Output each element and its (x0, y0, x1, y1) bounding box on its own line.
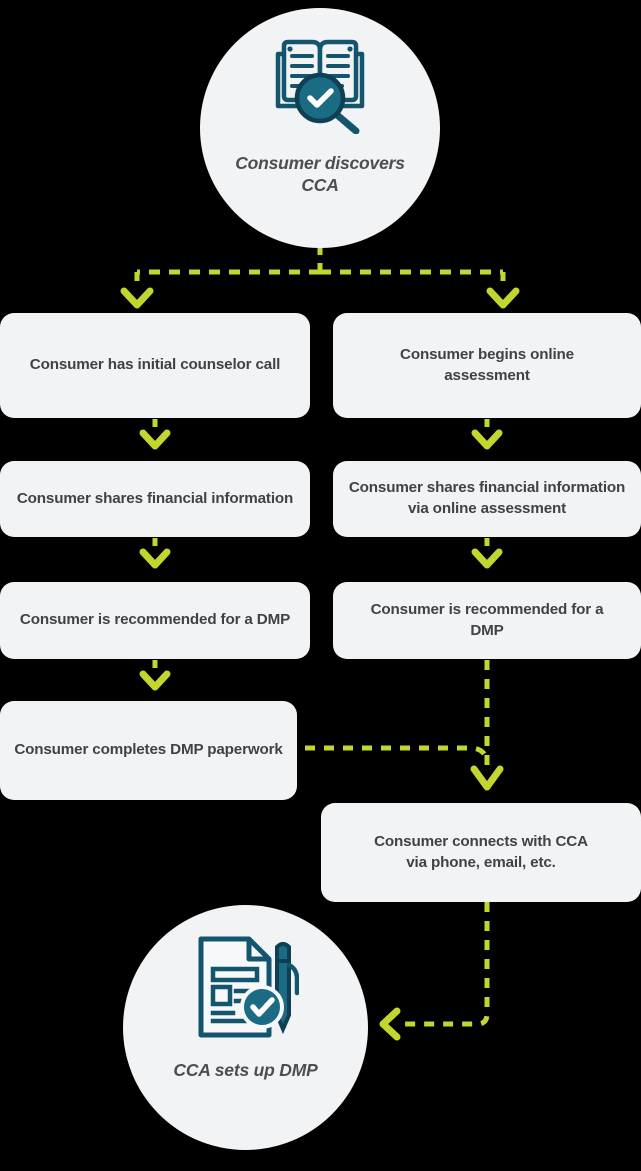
connector-left4-merge (305, 748, 487, 765)
arrowhead-right-2 (475, 433, 499, 446)
node-left-1-label: Consumer has initial counselor call (30, 355, 280, 376)
arrowhead-right-3 (475, 552, 499, 565)
arrowhead-left-4 (143, 674, 167, 687)
node-left-4-label: Consumer completes DMP paperwork (14, 740, 282, 761)
node-left-2[interactable]: Consumer shares financial information (0, 461, 310, 537)
arrowhead-left-2 (143, 433, 167, 446)
node-left-3-label: Consumer is recommended for a DMP (20, 610, 290, 631)
node-right-4[interactable]: Consumer connects with CCA via phone, em… (321, 803, 641, 902)
node-left-1[interactable]: Consumer has initial counselor call (0, 313, 310, 418)
node-end-label: CCA sets up DMP (156, 1060, 336, 1082)
node-start[interactable]: Consumer discovers CCA (200, 8, 440, 248)
arrowhead-end (383, 1011, 397, 1037)
node-left-3[interactable]: Consumer is recommended for a DMP (0, 582, 310, 659)
arrowhead-left-3 (143, 552, 167, 565)
node-end[interactable]: CCA sets up DMP (123, 905, 368, 1150)
connector-right4-end (400, 902, 487, 1024)
document-pen-check-icon (193, 935, 299, 1044)
node-right-2-label: Consumer shares financial information vi… (345, 478, 629, 519)
arrowhead-left-1 (124, 291, 150, 305)
node-start-label: Consumer discovers CCA (225, 153, 415, 197)
node-left-4[interactable]: Consumer completes DMP paperwork (0, 701, 297, 800)
arrowhead-right-1 (490, 291, 516, 305)
book-search-check-icon (268, 34, 372, 139)
node-right-1-label: Consumer begins online assessment (372, 345, 602, 386)
node-right-1[interactable]: Consumer begins online assessment (333, 313, 641, 418)
arrowhead-right-4 (474, 769, 500, 787)
node-left-2-label: Consumer shares financial information (17, 489, 293, 510)
node-right-4-label: Consumer connects with CCA via phone, em… (366, 832, 596, 873)
node-right-2[interactable]: Consumer shares financial information vi… (333, 461, 641, 537)
flowchart-canvas: Consumer discovers CCA Consumer has init… (0, 0, 641, 1171)
node-right-3[interactable]: Consumer is recommended for a DMP (333, 582, 641, 659)
node-right-3-label: Consumer is recommended for a DMP (362, 600, 612, 641)
